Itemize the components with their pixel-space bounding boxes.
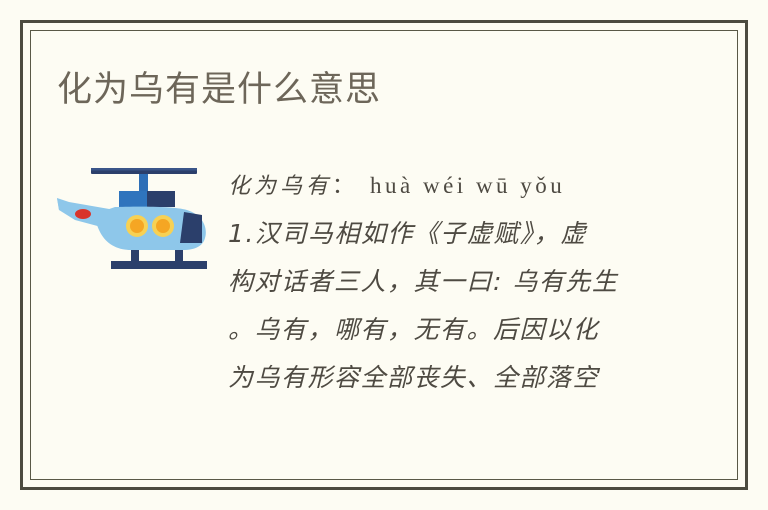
definition-line-2: 构对话者三人，其一曰: 乌有先生 (228, 258, 660, 306)
definition-line-1-text: 1.汉司马相如作《子虚赋》，虚 (228, 219, 587, 248)
page-title: 化为乌有是什么意思 (57, 68, 381, 112)
helicopter-icon (53, 158, 221, 273)
headword-pinyin: huà wéi wū yǒu (356, 173, 565, 198)
definition-line-3: 。乌有，哪有，无有。后因以化 (228, 306, 660, 354)
definition-line-1: 1.汉司马相如作《子虚赋》，虚 (228, 210, 660, 258)
helicopter-illustration (53, 158, 221, 273)
definition-block: 化为乌有：huà wéi wū yǒu 1.汉司马相如作《子虚赋》，虚 构对话者… (228, 162, 660, 402)
headword-colon: ： (332, 174, 356, 199)
definition-line-4-text: 为乌有形容全部丧失、全部落空 (228, 363, 599, 392)
headword-text: 化为乌有 (228, 174, 332, 199)
dictionary-card: 化为乌有是什么意思 (0, 0, 768, 510)
definition-line-4: 为乌有形容全部丧失、全部落空 (228, 354, 660, 402)
definition-line-3-text: 。乌有，哪有，无有。后因以化 (228, 315, 599, 344)
definition-headword-line: 化为乌有：huà wéi wū yǒu (228, 162, 660, 210)
definition-line-2-text: 构对话者三人，其一曰: 乌有先生 (228, 267, 618, 296)
